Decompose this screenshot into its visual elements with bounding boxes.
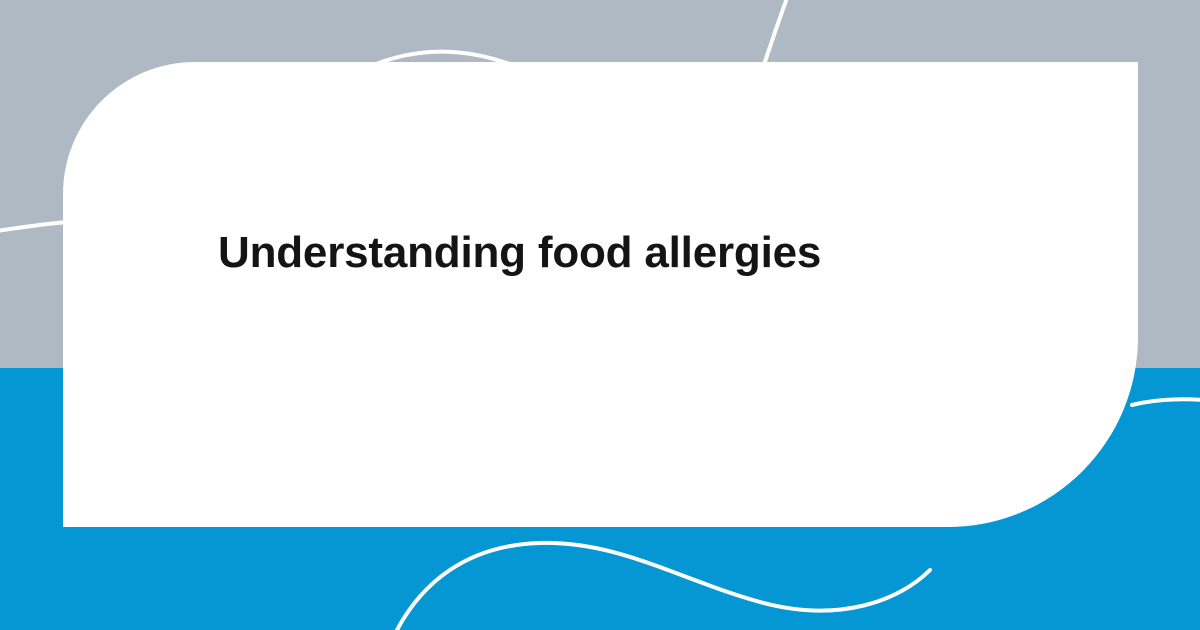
banner-card: Understanding food allergies bbox=[0, 0, 1200, 630]
page-title: Understanding food allergies bbox=[218, 228, 821, 279]
title-container: Understanding food allergies bbox=[218, 228, 1018, 279]
background-decoration bbox=[0, 0, 1200, 630]
card-shape bbox=[63, 62, 1138, 527]
